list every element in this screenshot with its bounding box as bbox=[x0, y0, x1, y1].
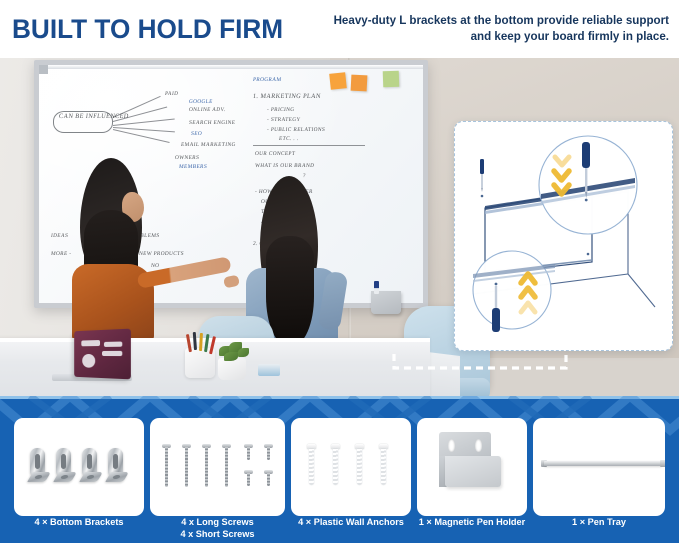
part-label-pen-holder: 1 × Magnetic Pen Holder bbox=[417, 516, 527, 543]
part-label-screws: 4 x Long Screws 4 x Short Screws bbox=[150, 516, 285, 543]
screw-shank bbox=[267, 473, 270, 486]
eraser-block bbox=[258, 364, 280, 376]
pen-holder-hole bbox=[475, 439, 482, 452]
parts-card-row bbox=[0, 418, 679, 516]
note-text: - PUBLIC RELATIONS bbox=[267, 127, 326, 133]
bracket-back bbox=[56, 448, 71, 474]
bracket-slot bbox=[35, 454, 40, 469]
plant-leaf bbox=[224, 352, 238, 361]
note-text: SEARCH ENGINE bbox=[189, 120, 236, 126]
part-card-wall-anchors bbox=[291, 418, 411, 516]
bracket-foot bbox=[79, 472, 103, 482]
plant-pot bbox=[218, 358, 246, 380]
part-label-bottom-brackets: 4 × Bottom Brackets bbox=[14, 516, 144, 543]
note-text: 1. MARKETING PLAN bbox=[253, 93, 322, 101]
note-text: ONLINE ADV. bbox=[189, 107, 226, 113]
part-label-pen-tray: 1 × Pen Tray bbox=[533, 516, 665, 543]
page-title: BUILT TO HOLD FIRM bbox=[12, 14, 283, 45]
note-text: WHAT IS OUR BRAND bbox=[255, 163, 315, 169]
part-card-pen-holder bbox=[417, 418, 527, 516]
header-bar: BUILT TO HOLD FIRM Heavy-duty L brackets… bbox=[0, 0, 679, 58]
bracket-slot bbox=[61, 454, 66, 469]
frame-corner bbox=[39, 65, 48, 74]
l-bracket-icon bbox=[30, 448, 47, 482]
part-label-screws-line2: 4 x Short Screws bbox=[150, 529, 285, 541]
installation-diagram bbox=[455, 122, 674, 352]
sticky-note-orange-2 bbox=[351, 75, 368, 92]
screw-shank bbox=[247, 447, 250, 460]
l-bracket-icon bbox=[56, 448, 73, 482]
note-text: - STRATEGY bbox=[267, 117, 301, 123]
anchor-body bbox=[333, 449, 338, 485]
part-label-wall-anchors: 4 × Plastic Wall Anchors bbox=[291, 516, 411, 543]
laptop-sticker bbox=[81, 340, 100, 346]
screw-shank bbox=[205, 447, 208, 487]
note-bubble-line1: CAN BE INFLUENCED bbox=[59, 113, 130, 121]
bracket-back bbox=[30, 448, 45, 474]
bracket-slot bbox=[87, 454, 92, 469]
screw-shank bbox=[165, 447, 168, 487]
person-hair-long bbox=[266, 236, 314, 346]
callout-bracket bbox=[390, 352, 570, 374]
callout-top bbox=[539, 136, 637, 234]
note-underline bbox=[253, 145, 365, 146]
bracket-hole bbox=[34, 475, 43, 479]
part-card-screws bbox=[150, 418, 285, 516]
laptop bbox=[74, 329, 131, 380]
part-card-pen-tray bbox=[533, 418, 665, 516]
note-text: GOOGLE bbox=[189, 99, 214, 105]
screw-shank bbox=[247, 473, 250, 486]
pen-holder-tray bbox=[445, 456, 501, 487]
note-text: PROGRAM bbox=[253, 77, 282, 83]
pen-holder-hole bbox=[448, 439, 455, 452]
screw-shank bbox=[225, 447, 228, 487]
laptop-sticker bbox=[102, 351, 122, 356]
screw-shank bbox=[267, 447, 270, 460]
bracket-foot bbox=[105, 472, 129, 482]
bracket-hole bbox=[60, 475, 69, 479]
laptop-sticker bbox=[104, 342, 122, 347]
anchor-body bbox=[357, 449, 362, 485]
header-subtitle: Heavy-duty L brackets at the bottom prov… bbox=[317, 13, 669, 45]
pen-tray-end-cap-right bbox=[660, 460, 665, 467]
note-text: SEO bbox=[191, 131, 203, 137]
bracket-foot bbox=[53, 472, 77, 482]
note-text: OUR CONCEPT bbox=[255, 151, 296, 157]
part-card-bottom-brackets bbox=[14, 418, 144, 516]
table-front bbox=[0, 338, 430, 396]
note-text: MEMBERS bbox=[179, 164, 208, 170]
plant-leaf bbox=[238, 348, 249, 357]
bracket-foot bbox=[27, 472, 51, 482]
note-text: - PRICING bbox=[267, 107, 295, 113]
anchor-body bbox=[381, 449, 386, 485]
sticky-note-green bbox=[383, 71, 400, 88]
bracket-hole bbox=[86, 475, 95, 479]
part-label-screws-line1: 4 x Long Screws bbox=[150, 517, 285, 529]
l-bracket-icon bbox=[82, 448, 99, 482]
frame-highlight bbox=[39, 65, 423, 69]
bracket-back bbox=[82, 448, 97, 474]
laptop-sticker-round bbox=[82, 354, 95, 368]
pen-tray-icon bbox=[544, 461, 662, 466]
parts-banner: 4 × Bottom Brackets 4 x Long Screws 4 x … bbox=[0, 396, 679, 543]
bracket-hole bbox=[112, 475, 121, 479]
bracket-slot bbox=[113, 454, 118, 469]
bracket-back bbox=[108, 448, 123, 474]
note-text: EMAIL MARKETING bbox=[181, 142, 236, 148]
screwdriver-small bbox=[480, 159, 484, 192]
parts-label-row: 4 × Bottom Brackets 4 x Long Screws 4 x … bbox=[0, 516, 679, 543]
note-text: ETC. . . bbox=[279, 136, 299, 142]
l-bracket-icon bbox=[108, 448, 125, 482]
screw-shank bbox=[185, 447, 188, 487]
anchor-body bbox=[309, 449, 314, 485]
installation-diagram-panel bbox=[454, 121, 673, 351]
sticky-note-orange-1 bbox=[329, 72, 347, 90]
magnetic-pen-holder-on-board bbox=[371, 291, 401, 314]
note-text: PAID bbox=[165, 91, 179, 97]
lifestyle-photo: CAN BE INFLUENCED PAID GOOGLE ONLINE ADV… bbox=[0, 58, 679, 396]
